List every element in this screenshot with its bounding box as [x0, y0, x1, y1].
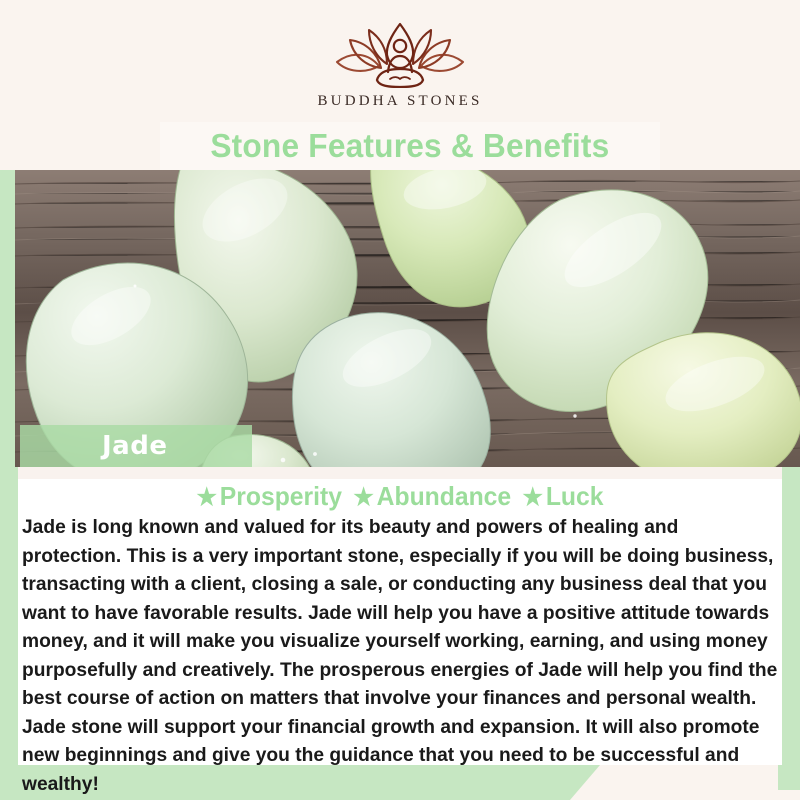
- title-banner: Stone Features & Benefits: [160, 122, 660, 170]
- benefit-label-abundance: Abundance: [377, 481, 511, 511]
- benefit-label-prosperity: Prosperity: [220, 481, 342, 511]
- panel-top-tint: [18, 467, 782, 479]
- description-paragraph: Jade is long known and valued for its be…: [22, 513, 780, 798]
- stone-info-poster: BUDDHA STONES Stone Features & Benefits: [0, 0, 800, 800]
- stone-name-bar: Jade: [20, 425, 252, 467]
- benefit-item-prosperity: ★Prosperity: [196, 481, 341, 511]
- star-icon: ★: [196, 484, 216, 511]
- stone-photo: [15, 170, 800, 467]
- lotus-meditation-icon: [325, 22, 475, 88]
- stone-name-label: Jade: [102, 431, 167, 461]
- benefits-row: ★Prosperity★Abundance★Luck: [37, 481, 763, 512]
- star-icon: ★: [523, 484, 543, 511]
- benefit-label-luck: Luck: [546, 481, 604, 511]
- star-icon: ★: [353, 484, 373, 511]
- benefit-item-abundance: ★Abundance: [353, 481, 511, 511]
- brand-logo-block: BUDDHA STONES: [18, 22, 782, 110]
- brand-name: BUDDHA STONES: [317, 93, 482, 110]
- benefit-item-luck: ★Luck: [523, 481, 604, 511]
- page-title: Stone Features & Benefits: [210, 127, 609, 165]
- description-panel: ★Prosperity★Abundance★Luck Jade is long …: [18, 467, 782, 765]
